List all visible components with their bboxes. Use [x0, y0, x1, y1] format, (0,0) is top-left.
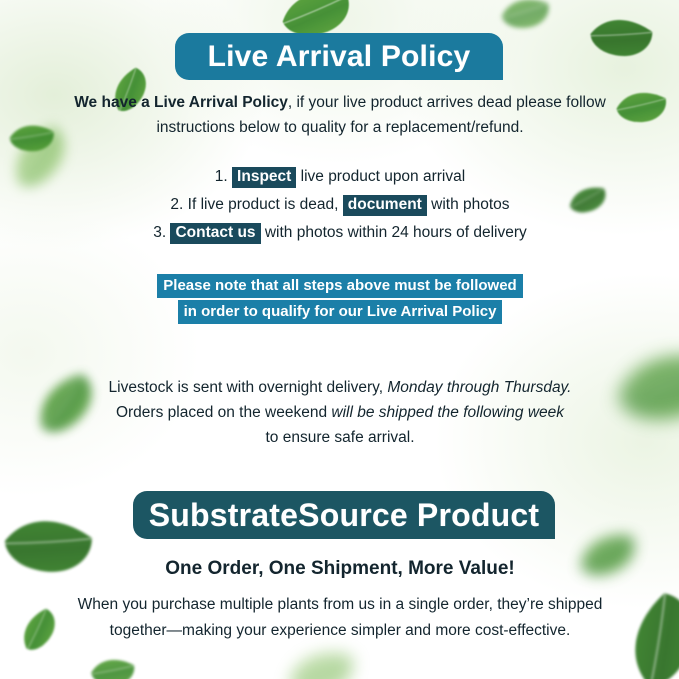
policy-step-1: 1. Inspect live product upon arrival [60, 163, 620, 191]
policy-steps-list: 1. Inspect live product upon arrival 2. … [60, 163, 620, 247]
policy-step-3: 3. Contact us with photos within 24 hour… [60, 219, 620, 247]
substratesource-product-title: SubstrateSource Product [149, 497, 539, 534]
shipping-line-1-plain: Livestock is sent with overnight deliver… [109, 379, 384, 396]
policy-note-line-1: Please note that all steps above must be… [157, 274, 522, 298]
live-arrival-policy-title: Live Arrival Policy [208, 40, 471, 74]
step-3-after: with photos within 24 hours of delivery [265, 224, 527, 241]
product-body-paragraph: When you purchase multiple plants from u… [60, 592, 620, 644]
step-1-number: 1. [215, 168, 228, 185]
live-arrival-policy-banner: Live Arrival Policy [175, 33, 503, 80]
policy-step-2: 2. If live product is dead, document wit… [60, 191, 620, 219]
step-3-number: 3. [153, 224, 166, 241]
policy-intro-paragraph: We have a Live Arrival Policy, if your l… [60, 90, 620, 140]
policy-note-block: Please note that all steps above must be… [60, 274, 620, 326]
step-2-chip-document: document [343, 195, 427, 216]
shipping-line-1-italic: Monday through Thursday. [387, 379, 571, 396]
step-2-number: 2. [170, 196, 183, 213]
step-1-chip-inspect: Inspect [232, 167, 296, 188]
shipping-line-2-italic: will be shipped the following week [331, 404, 564, 421]
shipping-line-3: to ensure safe arrival. [265, 429, 414, 446]
shipping-paragraph: Livestock is sent with overnight deliver… [60, 375, 620, 450]
policy-intro-bold: We have a Live Arrival Policy [74, 94, 288, 111]
substratesource-product-banner: SubstrateSource Product [133, 491, 555, 539]
poster-content: Live Arrival Policy We have a Live Arriv… [0, 0, 679, 679]
step-2-before: If live product is dead, [188, 196, 339, 213]
poster-canvas: Live Arrival Policy We have a Live Arriv… [0, 0, 679, 679]
step-1-after: live product upon arrival [301, 168, 466, 185]
step-2-after: with photos [431, 196, 509, 213]
product-subheading: One Order, One Shipment, More Value! [60, 558, 620, 580]
policy-note-line-2: in order to qualify for our Live Arrival… [178, 300, 503, 324]
shipping-line-2-plain: Orders placed on the weekend [116, 404, 327, 421]
policy-note-row-1: Please note that all steps above must be… [60, 274, 620, 298]
policy-note-row-2: in order to qualify for our Live Arrival… [60, 300, 620, 324]
step-3-chip-contact-us: Contact us [170, 223, 260, 244]
